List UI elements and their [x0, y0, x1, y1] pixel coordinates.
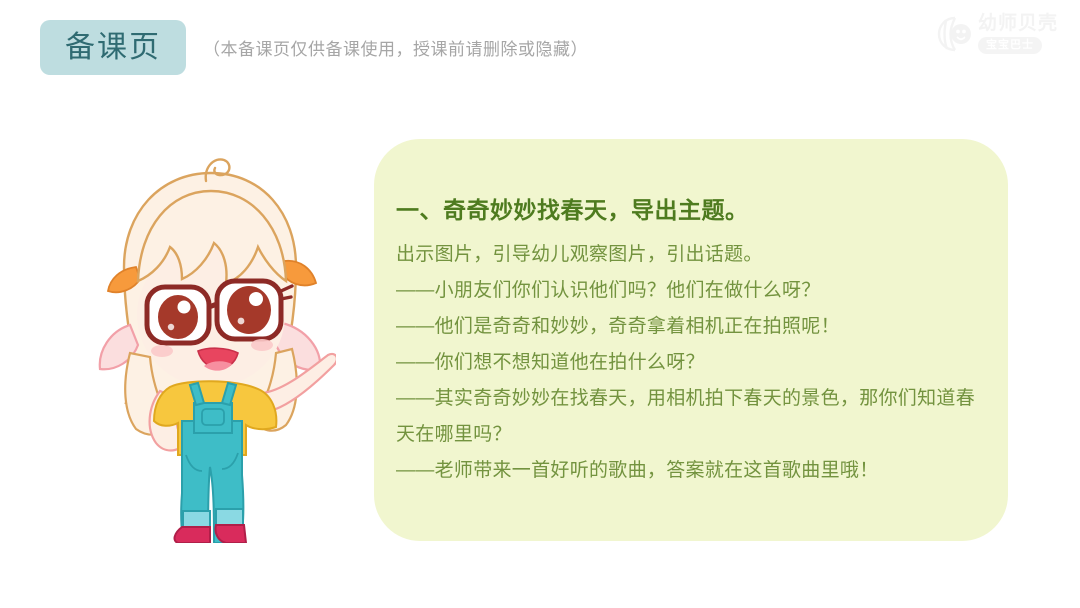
lesson-line-4: ——你们想不想知道他在拍什么呀？ [396, 345, 982, 381]
lesson-content-body: 一、奇奇妙妙找春天，导出主题。 出示图片，引导幼儿观察图片，引出话题。 ——小朋… [396, 193, 982, 489]
shell-logo-icon [936, 15, 974, 53]
brand-watermark: 幼师贝壳 宝宝巴士 [936, 13, 1068, 57]
page-title-chip: 备课页 [40, 20, 186, 75]
miaomiao-sheep-girl-illustration [86, 155, 336, 543]
lesson-line-3: ——他们是奇奇和妙妙，奇奇拿着相机正在拍照呢！ [396, 309, 982, 345]
section-title: 一、奇奇妙妙找春天，导出主题。 [396, 193, 982, 227]
slide-root: 备课页 （本备课页仅供备课使用，授课前请删除或隐藏） 幼师贝壳 [0, 0, 1080, 608]
lesson-line-1: 出示图片，引导幼儿观察图片，引出话题。 [396, 237, 982, 273]
brand-name: 幼师贝壳 [978, 13, 1058, 35]
brand-sub-pill: 宝宝巴士 [978, 37, 1042, 54]
lesson-line-5: ——其实奇奇妙妙在找春天，用相机拍下春天的景色，那你们知道春天在哪里吗？ [396, 381, 982, 453]
lesson-line-6: ——老师带来一首好听的歌曲，答案就在这首歌曲里哦！ [396, 453, 982, 489]
page-title: 备课页 [65, 33, 161, 63]
brand-sub-label: 宝宝巴士 [986, 40, 1034, 51]
header-note: （本备课页仅供备课使用，授课前请删除或隐藏） [203, 38, 588, 62]
lesson-content-card: 一、奇奇妙妙找春天，导出主题。 出示图片，引导幼儿观察图片，引出话题。 ——小朋… [374, 139, 1008, 541]
page-header: 备课页 （本备课页仅供备课使用，授课前请删除或隐藏） 幼师贝壳 [0, 0, 1080, 96]
lesson-line-2: ——小朋友们你们认识他们吗？他们在做什么呀？ [396, 273, 982, 309]
